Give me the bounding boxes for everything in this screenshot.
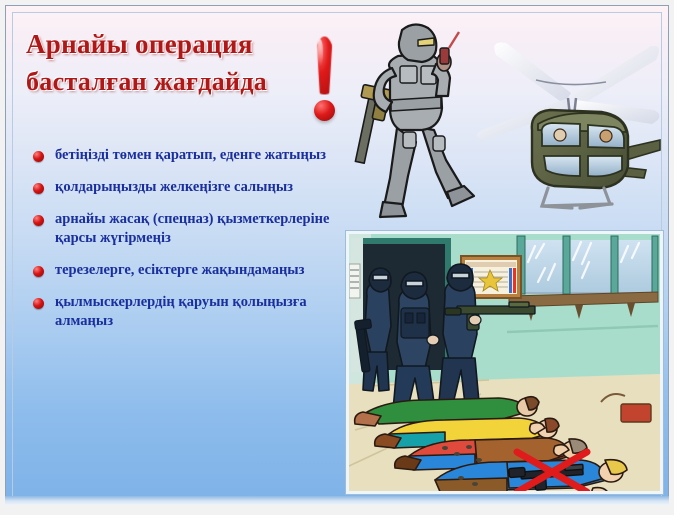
list-item: қолдарыңызды желкеңізге салыңыз	[30, 178, 330, 197]
list-item-label: арнайы жасақ (спецназ) қызметкерлеріне қ…	[55, 211, 329, 246]
list-item: терезелерге, есіктерге жақындамаңыз	[30, 261, 330, 280]
instruction-list: бетіңізді төмен қаратып, еденге жатыңыз …	[30, 146, 330, 344]
exclamation-dot	[314, 100, 335, 121]
page-title: Арнайы операция басталған жағдайда	[26, 26, 311, 100]
military-helicopter-illustration	[476, 38, 666, 213]
hostage-rescue-scene-illustration	[346, 231, 663, 494]
slide-root: Арнайы операция басталған жағдайда бетің…	[0, 0, 674, 515]
list-item-label: қылмыскерлердің қаруын қолыңызға алмаңыз	[55, 294, 307, 329]
title-line-2: басталған жағдайда	[26, 63, 311, 100]
exclamation-mark-icon	[305, 36, 345, 126]
bullet-dot-icon	[33, 266, 44, 277]
list-item-label: қолдарыңызды желкеңізге салыңыз	[55, 179, 293, 195]
bullet-dot-icon	[33, 298, 44, 309]
list-item-label: терезелерге, есіктерге жақындамаңыз	[55, 262, 304, 278]
list-item: бетіңізді төмен қаратып, еденге жатыңыз	[30, 146, 330, 165]
exclamation-stem	[313, 36, 336, 94]
bullet-dot-icon	[33, 183, 44, 194]
bullet-dot-icon	[33, 215, 44, 226]
title-line-1: Арнайы операция	[26, 26, 311, 63]
list-item: қылмыскерлердің қаруын қолыңызға алмаңыз	[30, 293, 330, 331]
slide-bottom-bar	[5, 496, 669, 505]
commando-soldier-illustration	[350, 16, 480, 221]
bullet-dot-icon	[33, 151, 44, 162]
list-item-label: бетіңізді төмен қаратып, еденге жатыңыз	[55, 147, 326, 163]
list-item: арнайы жасақ (спецназ) қызметкерлеріне қ…	[30, 210, 330, 248]
